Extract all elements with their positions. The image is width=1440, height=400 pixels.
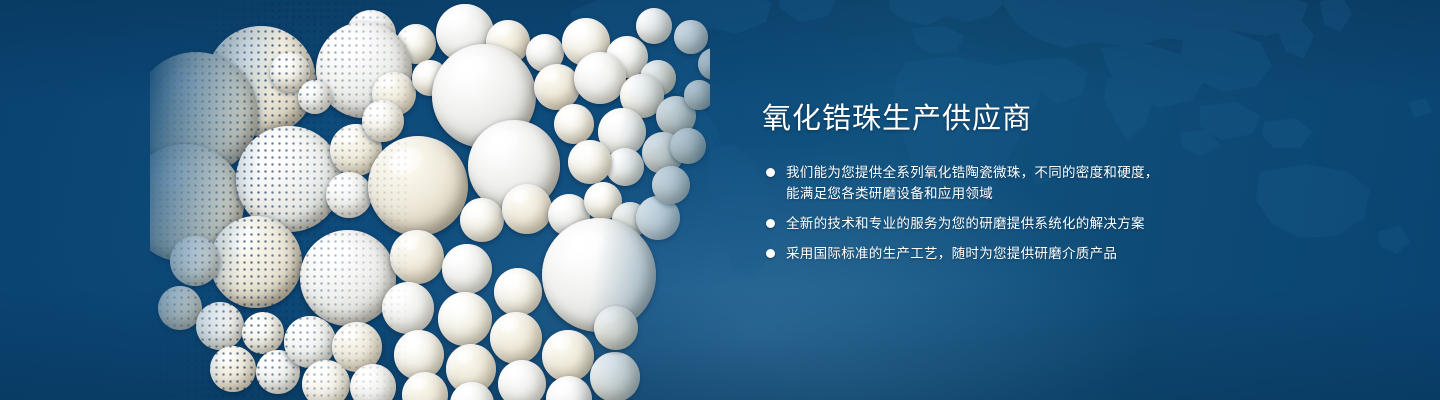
bead-cluster: [150, 0, 710, 400]
list-item-line1: 全新的技术和专业的服务为您的研磨提供系统化的解决方案: [786, 216, 1145, 231]
bead: [590, 352, 640, 400]
bead: [494, 268, 542, 316]
bead: [298, 80, 332, 114]
bead: [574, 52, 626, 104]
bead: [502, 184, 552, 234]
bead: [196, 302, 244, 350]
bead: [490, 312, 542, 364]
list-item-line1: 采用国际标准的生产工艺，随时为您提供研磨介质产品: [786, 246, 1117, 261]
bead: [498, 360, 546, 400]
list-item: 全新的技术和专业的服务为您的研磨提供系统化的解决方案: [762, 213, 1232, 234]
banner-copy: 氧化锆珠生产供应商 我们能为您提供全系列氧化锆陶瓷微珠，不同的密度和硬度， 能满…: [762, 104, 1232, 264]
bead: [326, 172, 372, 218]
bead: [390, 230, 444, 284]
bead: [438, 292, 492, 346]
bead: [302, 360, 350, 400]
bead: [636, 8, 672, 44]
bead: [670, 128, 706, 164]
bead: [350, 364, 396, 400]
bullet-dot-icon: [766, 168, 775, 177]
bead: [684, 80, 710, 110]
bullet-dot-icon: [766, 249, 775, 258]
hero-banner: 氧化锆珠生产供应商 我们能为您提供全系列氧化锆陶瓷微珠，不同的密度和硬度， 能满…: [0, 0, 1440, 400]
bead: [554, 104, 594, 144]
bead: [542, 330, 594, 382]
bead: [698, 48, 710, 80]
bead: [652, 166, 690, 204]
list-item-line2: 能满足您各类研磨设备和应用领域: [786, 183, 1232, 204]
bead: [674, 20, 708, 54]
bead: [606, 148, 644, 186]
bead: [546, 376, 592, 400]
bead: [382, 282, 434, 334]
list-item-line1: 我们能为您提供全系列氧化锆陶瓷微珠，不同的密度和硬度，: [786, 165, 1159, 180]
zirconia-beads-photo: [150, 0, 710, 400]
page-title: 氧化锆珠生产供应商: [762, 104, 1232, 136]
bead: [568, 140, 612, 184]
bead: [170, 236, 220, 286]
bead: [442, 244, 492, 294]
bead: [594, 306, 638, 350]
feature-list: 我们能为您提供全系列氧化锆陶瓷微珠，不同的密度和硬度， 能满足您各类研磨设备和应…: [762, 162, 1232, 264]
list-item: 采用国际标准的生产工艺，随时为您提供研磨介质产品: [762, 243, 1232, 264]
bead: [362, 100, 404, 142]
bead: [460, 198, 504, 242]
bead: [242, 312, 284, 354]
bead: [210, 346, 256, 392]
list-item: 我们能为您提供全系列氧化锆陶瓷微珠，不同的密度和硬度， 能满足您各类研磨设备和应…: [762, 162, 1232, 204]
bead-large: [368, 136, 468, 236]
bullet-dot-icon: [766, 219, 775, 228]
bead-large: [210, 216, 302, 308]
